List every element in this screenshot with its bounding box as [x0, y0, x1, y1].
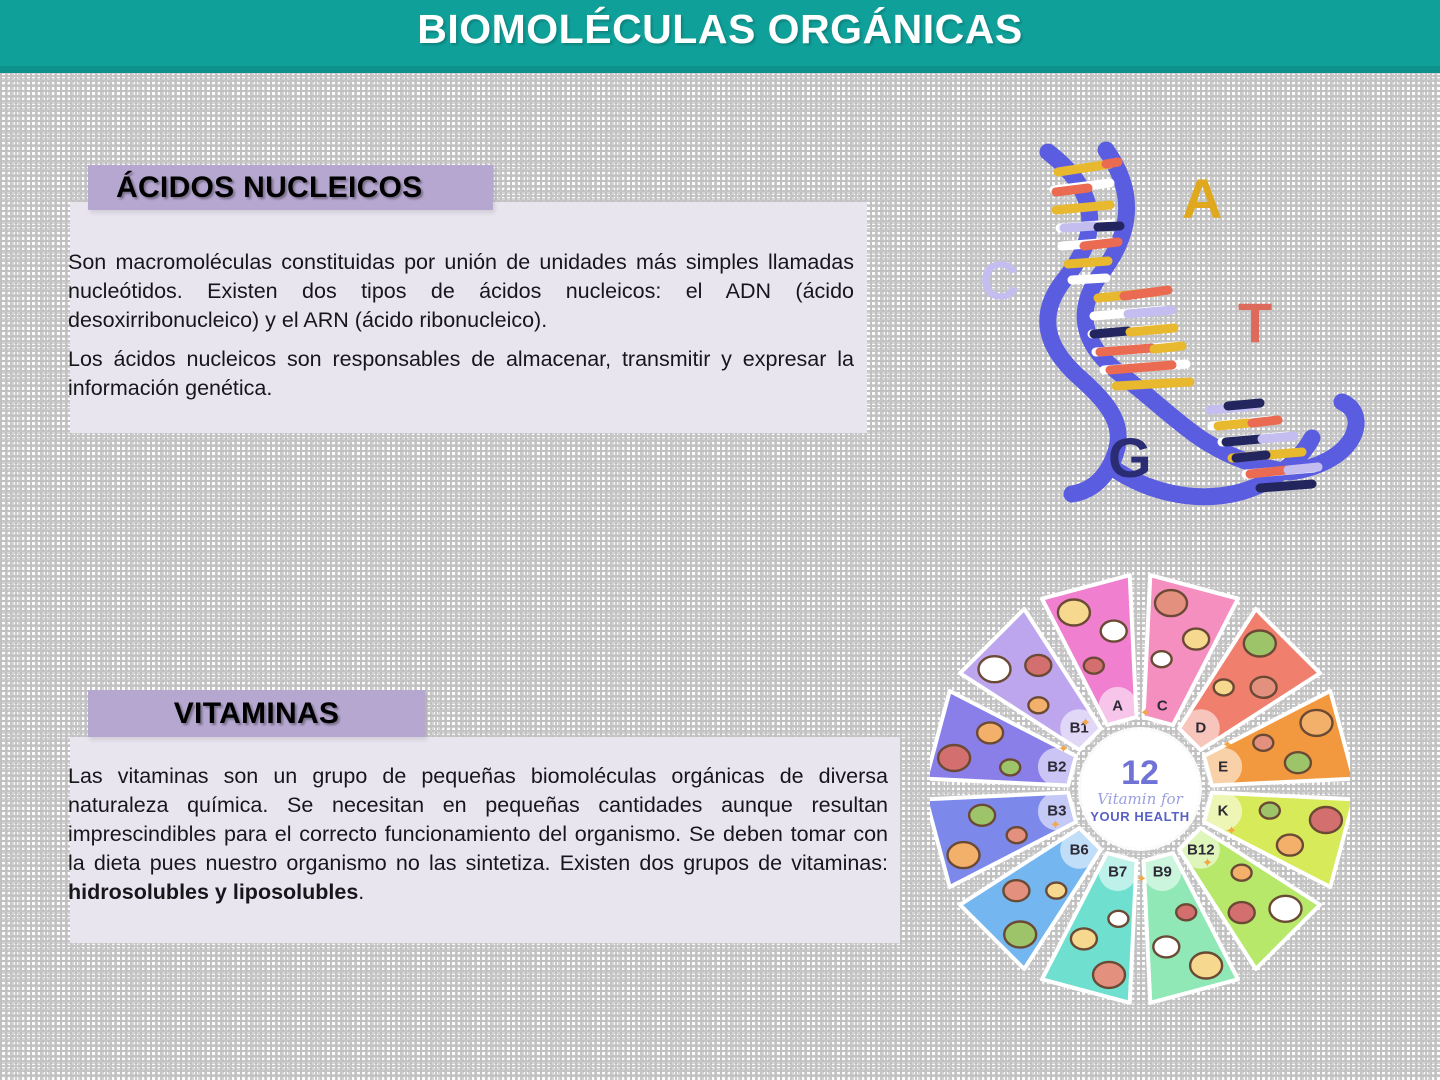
- wheel-segment-food-doodle: [1028, 697, 1048, 713]
- wheel-segment-food-doodle: [1176, 904, 1196, 920]
- wheel-segment-food-doodle: [1153, 936, 1179, 957]
- slide-canvas: BIOMOLÉCULAS ORGÁNICAS ÁCIDOS NUCLEICOS …: [0, 0, 1440, 1080]
- wheel-segment-food-doodle: [1004, 922, 1036, 948]
- section-title-vitamins: VITAMINAS: [174, 697, 339, 731]
- section-title-nucleic-acids: ÁCIDOS NUCLEICOS: [116, 171, 422, 205]
- wheel-center-subtitle: YOUR HEALTH: [1090, 810, 1190, 823]
- wheel-segment-food-doodle: [1260, 803, 1280, 819]
- wheel-segment-food-doodle: [1108, 911, 1128, 927]
- vitamins-text-bold: hidrosolubles y liposolubles: [68, 880, 358, 904]
- wheel-segment-label-B1: B1: [1070, 720, 1089, 737]
- wheel-segment-label-C: C: [1157, 697, 1168, 714]
- wheel-segment-food-doodle: [948, 842, 980, 868]
- dna-illustration: A C T G: [960, 120, 1380, 520]
- section-band-vitamins: VITAMINAS: [88, 690, 425, 737]
- wheel-segment-label-A: A: [1112, 697, 1123, 714]
- dna-double-helix-svg: [960, 120, 1380, 520]
- wheel-segment-label-B7: B7: [1108, 864, 1127, 881]
- wheel-segment-label-B6: B6: [1070, 841, 1089, 858]
- wheel-segment-food-doodle: [1046, 883, 1066, 899]
- wheel-segment-food-doodle: [1101, 621, 1127, 642]
- slide-header-bar: BIOMOLÉCULAS ORGÁNICAS: [0, 0, 1440, 72]
- wheel-segment-food-doodle: [1058, 600, 1090, 626]
- wheel-segment-food-doodle: [1084, 658, 1104, 674]
- dna-base-letter-t: T: [1238, 290, 1272, 355]
- wheel-segment-food-doodle: [1285, 752, 1311, 773]
- wheel-segment-food-doodle: [1253, 735, 1273, 751]
- wheel-segment-food-doodle: [977, 722, 1003, 743]
- wheel-center-badge: 12 Vitamin for YOUR HEALTH: [1081, 730, 1199, 848]
- wheel-segment-label-E: E: [1218, 758, 1228, 775]
- wheel-segment-food-doodle: [1155, 590, 1187, 616]
- vitamins-body: Las vitaminas son un grupo de pequeñas b…: [68, 762, 888, 907]
- wheel-segment-food-doodle: [1310, 807, 1342, 833]
- wheel-center-number: 12: [1121, 756, 1159, 790]
- vitamin-wheel-illustration: 12 Vitamin for YOUR HEALTH CDEKB12B9B7B6…: [930, 555, 1350, 1055]
- wheel-segment-food-doodle: [969, 805, 995, 826]
- wheel-segment-food-doodle: [1229, 902, 1255, 923]
- wheel-segment-label-B3: B3: [1047, 803, 1066, 820]
- section-band-nucleic-acids: ÁCIDOS NUCLEICOS: [88, 165, 493, 210]
- wheel-segment-food-doodle: [1000, 759, 1020, 775]
- wheel-segment-food-doodle: [938, 745, 970, 771]
- page-title: BIOMOLÉCULAS ORGÁNICAS: [0, 6, 1440, 53]
- vitamins-text-suffix: .: [358, 880, 364, 904]
- wheel-segment-food-doodle: [1277, 835, 1303, 856]
- wheel-segment-food-doodle: [1183, 629, 1209, 650]
- wheel-segment-label-B9: B9: [1153, 864, 1172, 881]
- wheel-segment-food-doodle: [1251, 677, 1277, 698]
- wheel-segment-food-doodle: [1003, 880, 1029, 901]
- nucleic-paragraph-2: Los ácidos nucleicos son responsables de…: [68, 345, 854, 403]
- wheel-segment-food-doodle: [1007, 827, 1027, 843]
- dna-base-letter-c: C: [980, 250, 1019, 312]
- dna-base-letter-a: A: [1182, 166, 1222, 231]
- wheel-segment-label-B12: B12: [1187, 841, 1215, 858]
- wheel-segment-food-doodle: [1152, 651, 1172, 667]
- wheel-segment-food-doodle: [1301, 710, 1333, 736]
- wheel-segment-label-K: K: [1218, 803, 1229, 820]
- wheel-segment-food-doodle: [1071, 928, 1097, 949]
- wheel-segment-food-doodle: [979, 656, 1011, 682]
- nucleic-acids-body: Son macromoléculas constituidas por unió…: [68, 248, 854, 403]
- wheel-segment-food-doodle: [1232, 865, 1252, 881]
- wheel-segment-food-doodle: [1214, 679, 1234, 695]
- wheel-segment-label-B2: B2: [1047, 758, 1066, 775]
- wheel-segment-food-doodle: [1244, 631, 1276, 657]
- dna-base-letter-g: G: [1108, 425, 1152, 490]
- wheel-segment-label-D: D: [1195, 720, 1206, 737]
- wheel-segment-food-doodle: [1093, 962, 1125, 988]
- wheel-segment-food-doodle: [1025, 655, 1051, 676]
- header-underline: [0, 66, 1440, 73]
- wheel-center-script: Vitamin for: [1097, 792, 1183, 807]
- nucleic-paragraph-1: Son macromoléculas constituidas por unió…: [68, 248, 854, 335]
- wheel-segment-food-doodle: [1270, 896, 1302, 922]
- wheel-segment-food-doodle: [1190, 953, 1222, 979]
- vitamins-paragraph: Las vitaminas son un grupo de pequeñas b…: [68, 762, 888, 907]
- vitamins-text-prefix: Las vitaminas son un grupo de pequeñas b…: [68, 764, 888, 875]
